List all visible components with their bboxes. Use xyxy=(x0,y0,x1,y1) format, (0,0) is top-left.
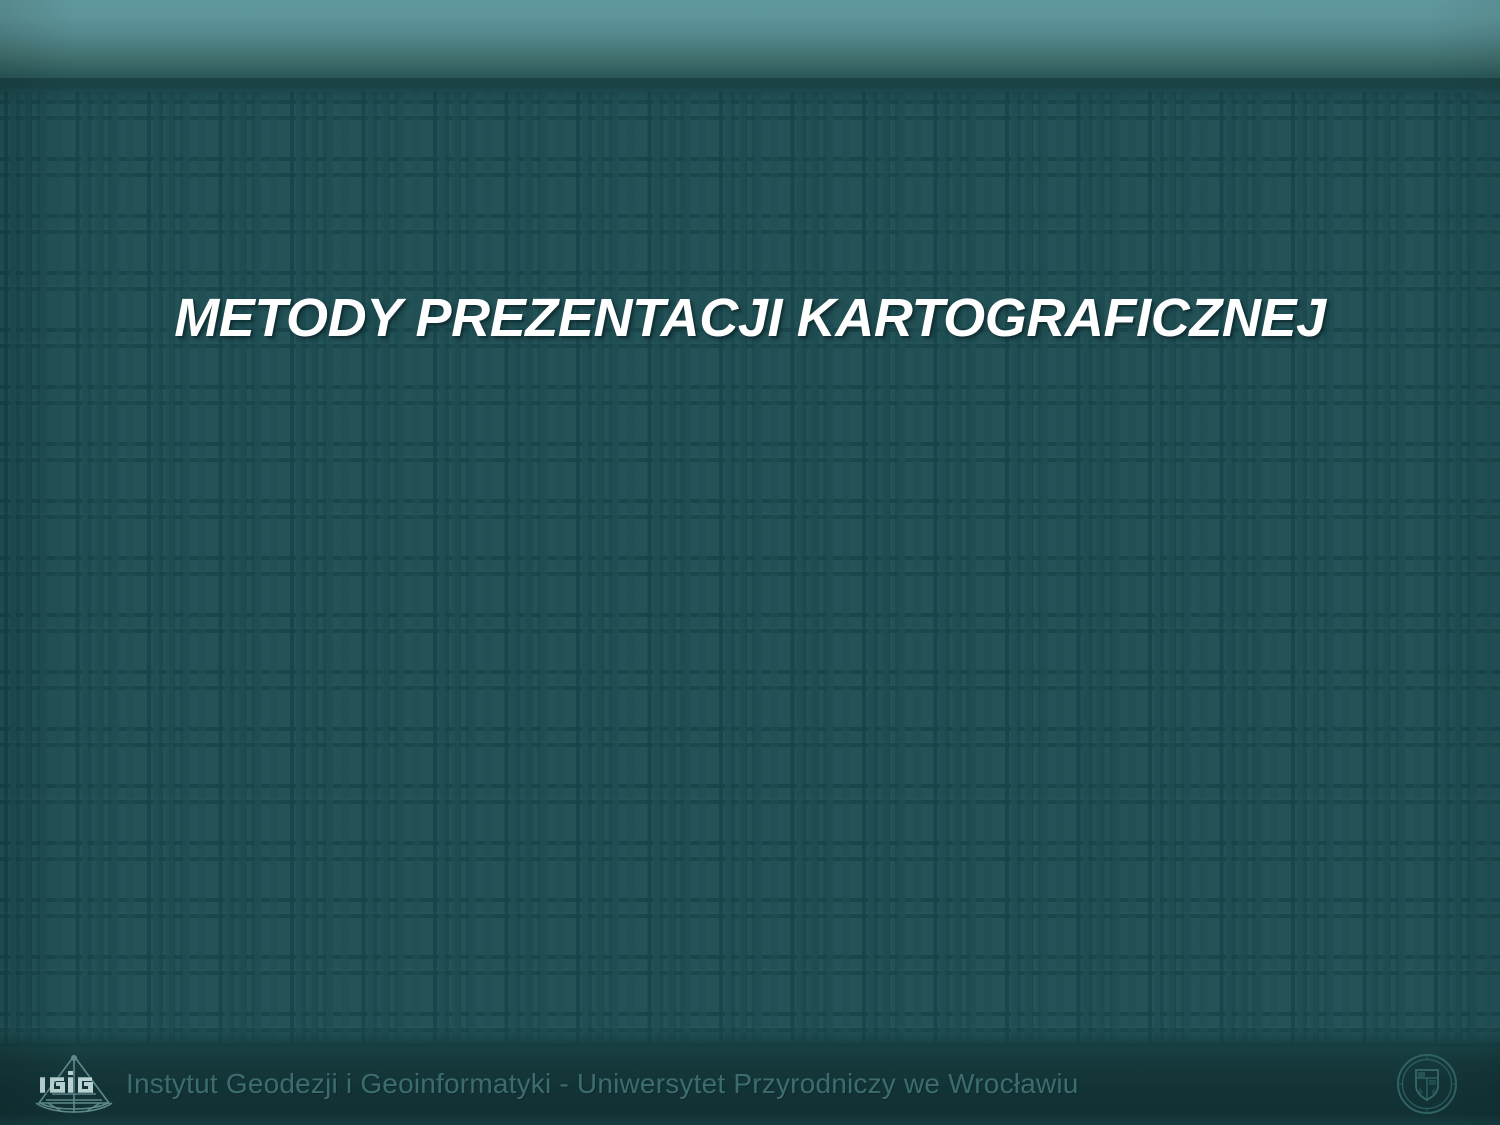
footer: Instytut Geodezji i Geoinformatyki - Uni… xyxy=(0,1043,1500,1125)
footer-credit-text: Instytut Geodezji i Geoinformatyki - Uni… xyxy=(126,1068,1396,1100)
igig-logo-icon xyxy=(28,1053,120,1115)
page-title: METODY PREZENTACJI KARTOGRAFICZNEJ xyxy=(80,288,1420,348)
title-container: METODY PREZENTACJI KARTOGRAFICZNEJ xyxy=(80,288,1420,348)
background-watermark-pattern-row-c xyxy=(0,86,1500,1125)
university-seal-icon xyxy=(1396,1053,1458,1115)
header-band-shadow xyxy=(0,78,1500,104)
presentation-slide: METODY PREZENTACJI KARTOGRAFICZNEJ xyxy=(0,0,1500,1125)
